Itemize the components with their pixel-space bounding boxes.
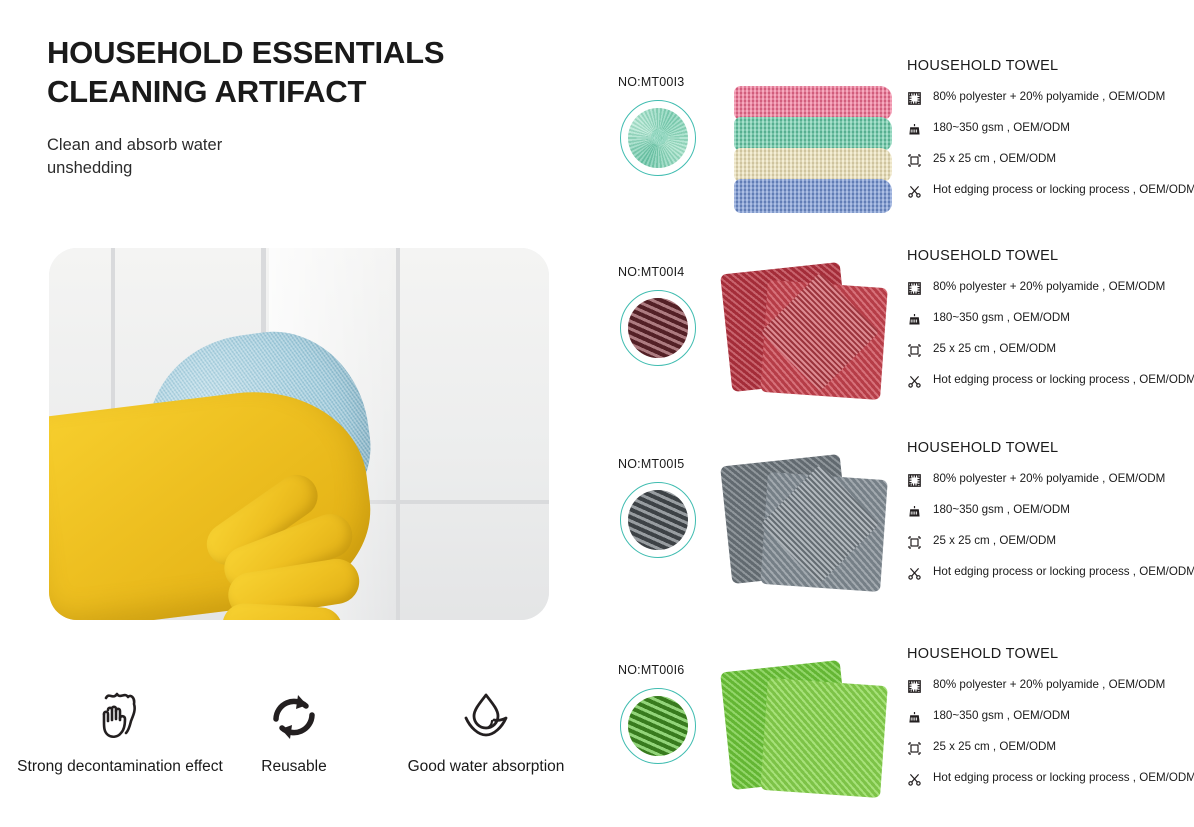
feature-list: Strong decontamination effect Reusable — [0, 686, 600, 796]
page-subtitle: Clean and absorb water unshedding — [47, 134, 222, 181]
product-photo — [720, 652, 910, 827]
fabric-swatch-thumbnail[interactable] — [620, 482, 696, 558]
stacked-towels — [734, 86, 894, 214]
feature-label: Strong decontamination effect — [16, 758, 224, 776]
product-code: NO:MT00I5 — [618, 457, 684, 471]
product-title: HOUSEHOLD TOWEL — [907, 646, 1194, 662]
product-spec-block: HOUSEHOLD TOWEL 80% polyester + 20% poly… — [907, 440, 1194, 596]
spec-row: Hot edging process or locking process , … — [907, 565, 1194, 581]
scissors-icon — [907, 772, 922, 787]
catalog-page: HOUSEHOLD ESSENTIALS CLEANING ARTIFACT C… — [0, 0, 1194, 827]
fabric-swatch-icon — [907, 473, 922, 488]
fabric-swatch-icon — [907, 281, 922, 296]
spec-text: Hot edging process or locking process , … — [933, 183, 1194, 197]
spec-text: Hot edging process or locking process , … — [933, 771, 1194, 785]
weight-scale-icon — [907, 504, 922, 519]
dimensions-icon — [907, 153, 922, 168]
spec-text: 25 x 25 cm , OEM/ODM — [933, 534, 1056, 548]
feature-item: Reusable — [258, 686, 330, 776]
spec-row: 25 x 25 cm , OEM/ODM — [907, 740, 1194, 756]
weight-scale-icon — [907, 312, 922, 327]
swatch-image — [628, 108, 688, 168]
feature-item: Strong decontamination effect — [16, 686, 224, 776]
product-title: HOUSEHOLD TOWEL — [907, 440, 1194, 456]
spec-row: 180~350 gsm , OEM/ODM — [907, 121, 1194, 137]
green-rib-texture — [628, 696, 688, 756]
teal-swirl-texture — [628, 108, 688, 168]
feature-item: Good water absorption — [406, 686, 566, 776]
spec-row: 25 x 25 cm , OEM/ODM — [907, 342, 1194, 358]
product-photo — [720, 254, 910, 434]
swatch-image — [628, 298, 688, 358]
swatch-image — [628, 696, 688, 756]
hero-photo — [49, 248, 549, 620]
spec-text: 25 x 25 cm , OEM/ODM — [933, 152, 1056, 166]
fabric-swatch-thumbnail[interactable] — [620, 100, 696, 176]
spec-text: 80% polyester + 20% polyamide , OEM/ODM — [933, 472, 1165, 486]
towel-green — [734, 117, 892, 151]
feature-label: Good water absorption — [406, 758, 566, 776]
spec-row: Hot edging process or locking process , … — [907, 183, 1194, 199]
folded-cloth-front — [760, 678, 888, 798]
scissors-icon — [907, 374, 922, 389]
fabric-swatch-thumbnail[interactable] — [620, 290, 696, 366]
fabric-swatch-icon — [907, 679, 922, 694]
product-code: NO:MT00I4 — [618, 265, 684, 279]
spec-text: 80% polyester + 20% polyamide , OEM/ODM — [933, 678, 1165, 692]
page-title: HOUSEHOLD ESSENTIALS CLEANING ARTIFACT — [47, 33, 444, 112]
swatch-image — [628, 490, 688, 550]
spec-row: 80% polyester + 20% polyamide , OEM/ODM — [907, 90, 1194, 106]
fabric-swatch-icon — [907, 91, 922, 106]
scissors-icon — [907, 184, 922, 199]
spec-row: 80% polyester + 20% polyamide , OEM/ODM — [907, 280, 1194, 296]
spec-row: Hot edging process or locking process , … — [907, 373, 1194, 389]
red-rib-texture — [628, 298, 688, 358]
scissors-icon — [907, 566, 922, 581]
spec-row: Hot edging process or locking process , … — [907, 771, 1194, 787]
towel-pink — [734, 86, 892, 120]
spec-text: 180~350 gsm , OEM/ODM — [933, 709, 1070, 723]
dimensions-icon — [907, 343, 922, 358]
weight-scale-icon — [907, 122, 922, 137]
spec-row: 180~350 gsm , OEM/ODM — [907, 311, 1194, 327]
product-code: NO:MT00I6 — [618, 663, 684, 677]
product-code: NO:MT00I3 — [618, 75, 684, 89]
product-photo — [720, 446, 910, 626]
towel-cream — [734, 148, 892, 182]
spec-text: 25 x 25 cm , OEM/ODM — [933, 740, 1056, 754]
water-droplet-icon — [406, 686, 566, 748]
page-subtitle-line-2: unshedding — [47, 157, 222, 180]
spec-text: 180~350 gsm , OEM/ODM — [933, 121, 1070, 135]
spec-text: 25 x 25 cm , OEM/ODM — [933, 342, 1056, 356]
feature-label: Reusable — [258, 758, 330, 776]
product-row: NO:MT00I6 HOUSEHOLD TOWEL 80% polyester … — [600, 646, 1194, 827]
spec-text: 180~350 gsm , OEM/ODM — [933, 311, 1070, 325]
product-row: NO:MT00I5 HOUSEHOLD TOWEL 80% polyester … — [600, 440, 1194, 630]
spec-text: 80% polyester + 20% polyamide , OEM/ODM — [933, 90, 1165, 104]
product-photo — [720, 64, 910, 244]
product-spec-block: HOUSEHOLD TOWEL 80% polyester + 20% poly… — [907, 646, 1194, 802]
hand-cloth-icon — [16, 686, 224, 748]
page-subtitle-line-1: Clean and absorb water — [47, 134, 222, 157]
grey-rib-texture — [628, 490, 688, 550]
spec-row: 25 x 25 cm , OEM/ODM — [907, 152, 1194, 168]
spec-text: 80% polyester + 20% polyamide , OEM/ODM — [933, 280, 1165, 294]
dimensions-icon — [907, 741, 922, 756]
product-title: HOUSEHOLD TOWEL — [907, 58, 1194, 74]
product-spec-block: HOUSEHOLD TOWEL 80% polyester + 20% poly… — [907, 58, 1194, 214]
spec-text: Hot edging process or locking process , … — [933, 373, 1194, 387]
page-title-line-1: HOUSEHOLD ESSENTIALS — [47, 33, 444, 72]
weight-scale-icon — [907, 710, 922, 725]
spec-row: 180~350 gsm , OEM/ODM — [907, 709, 1194, 725]
page-title-line-2: CLEANING ARTIFACT — [47, 72, 444, 111]
spec-text: 180~350 gsm , OEM/ODM — [933, 503, 1070, 517]
spec-row: 80% polyester + 20% polyamide , OEM/ODM — [907, 678, 1194, 694]
spec-row: 25 x 25 cm , OEM/ODM — [907, 534, 1194, 550]
spec-row: 80% polyester + 20% polyamide , OEM/ODM — [907, 472, 1194, 488]
product-row: NO:MT00I3 HOUSEHOLD TOWEL 80% polyester … — [600, 58, 1194, 248]
spec-text: Hot edging process or locking process , … — [933, 565, 1194, 579]
product-row: NO:MT00I4 HOUSEHOLD TOWEL 80% polyester … — [600, 248, 1194, 438]
fabric-swatch-thumbnail[interactable] — [620, 688, 696, 764]
recycle-arrows-icon — [258, 686, 330, 748]
dimensions-icon — [907, 535, 922, 550]
product-spec-block: HOUSEHOLD TOWEL 80% polyester + 20% poly… — [907, 248, 1194, 404]
product-title: HOUSEHOLD TOWEL — [907, 248, 1194, 264]
towel-blue — [734, 179, 892, 213]
spec-row: 180~350 gsm , OEM/ODM — [907, 503, 1194, 519]
